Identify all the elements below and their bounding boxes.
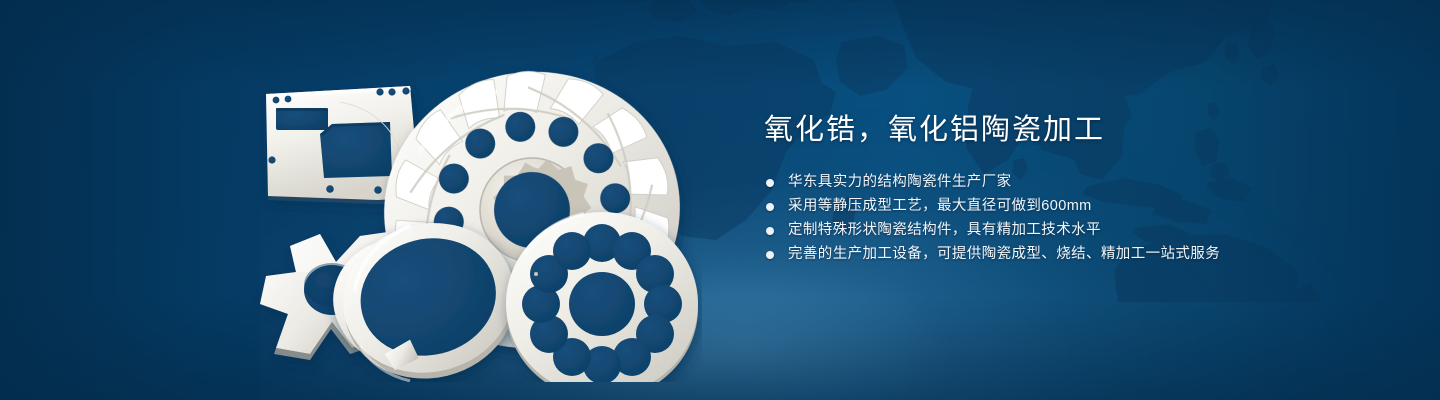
list-item-label: 采用等静压成型工艺，最大直径可做到600mm [788,195,1092,218]
list-item-label: 华东具实力的结构陶瓷件生产厂家 [788,171,1012,194]
ceramic-processing-banner: 氧化锆，氧化铝陶瓷加工 华东具实力的结构陶瓷件生产厂家 采用等静压成型工艺，最大… [0,0,1440,400]
list-item: 华东具实力的结构陶瓷件生产厂家 [766,171,1384,194]
feature-list: 华东具实力的结构陶瓷件生产厂家 采用等静压成型工艺，最大直径可做到600mm 定… [766,171,1384,266]
list-item: 完善的生产加工设备，可提供陶瓷成型、烧结、精加工一站式服务 [766,243,1384,266]
ceramic-products-image [232,42,702,382]
list-item-label: 定制特殊形状陶瓷结构件，具有精加工技术水平 [788,219,1101,242]
page-title: 氧化锆，氧化铝陶瓷加工 [764,110,1384,150]
bullet-dot-icon [766,179,774,187]
list-item-label: 完善的生产加工设备，可提供陶瓷成型、烧结、精加工一站式服务 [788,243,1220,266]
bullet-dot-icon [766,251,774,259]
bullet-dot-icon [766,227,774,235]
list-item: 定制特殊形状陶瓷结构件，具有精加工技术水平 [766,219,1384,242]
banner-copy: 氧化锆，氧化铝陶瓷加工 华东具实力的结构陶瓷件生产厂家 采用等静压成型工艺，最大… [764,110,1384,267]
list-item: 采用等静压成型工艺，最大直径可做到600mm [766,195,1384,218]
bullet-dot-icon [766,203,774,211]
